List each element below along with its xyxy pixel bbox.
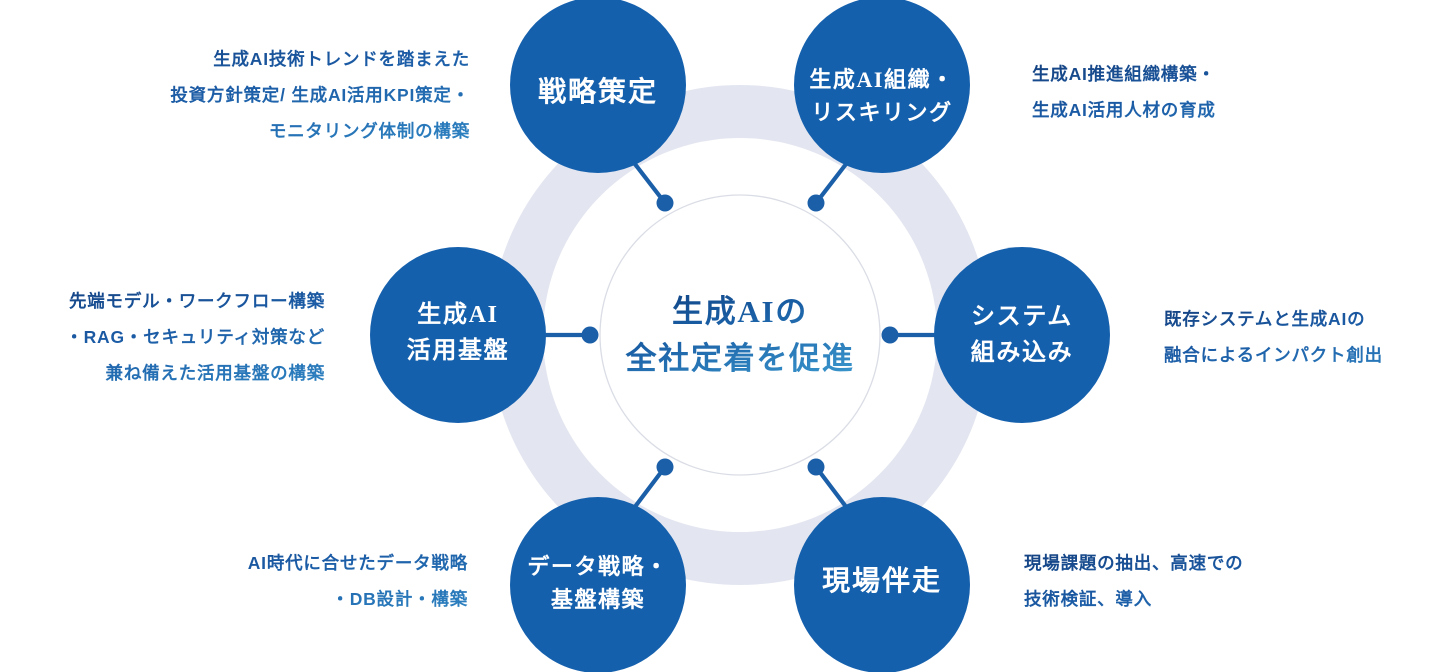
node-circle-system[interactable]: [934, 247, 1110, 423]
dot-system: [882, 327, 899, 344]
dot-fieldwork: [808, 459, 825, 476]
node-circle-org[interactable]: [794, 0, 970, 173]
dot-platform: [582, 327, 599, 344]
dot-strategy: [657, 195, 674, 212]
dot-data: [657, 459, 674, 476]
caption-system: 既存システムと生成AIの 融合によるインパクト創出: [1164, 302, 1436, 374]
caption-fieldwork: 現場課題の抽出、高速での 技術検証、導入: [1024, 546, 1424, 618]
inner-outline-circle: [600, 195, 880, 475]
caption-org: 生成AI推進組織構築・ 生成AI活用人材の育成: [1032, 57, 1432, 129]
caption-data: AI時代に合せたデータ戦略 ・DB設計・構築: [0, 546, 468, 618]
node-circle-data[interactable]: [510, 497, 686, 672]
caption-strategy: 生成AI技術トレンドを踏まえた 投資方針策定/ 生成AI活用KPI策定・ モニタ…: [0, 42, 470, 150]
node-circle-platform[interactable]: [370, 247, 546, 423]
diagram-canvas: 戦略策定 生成AI組織・ リスキリング システム 組み込み 現場伴走 データ戦略…: [0, 0, 1438, 672]
node-circle-fieldwork[interactable]: [794, 497, 970, 672]
node-circle-strategy[interactable]: [510, 0, 686, 173]
dot-org: [808, 195, 825, 212]
caption-platform: 先端モデル・ワークフロー構築 ・RAG・セキュリティ対策など 兼ね備えた活用基盤…: [0, 284, 325, 392]
